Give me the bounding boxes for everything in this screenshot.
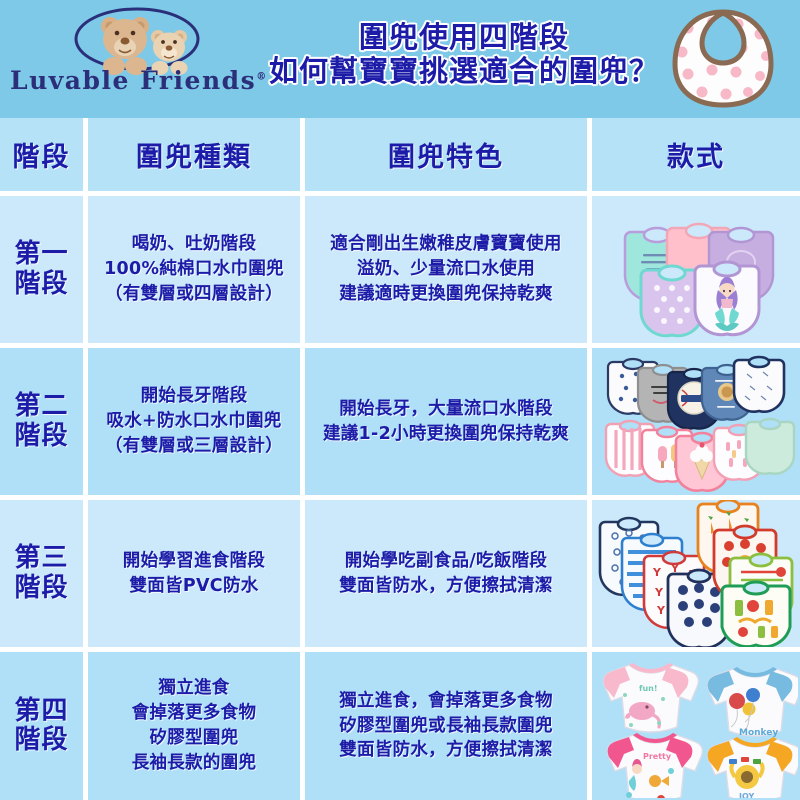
bib-type-cell: 開始長牙階段吸水+防水口水巾圍兜（有雙層或三層設計） xyxy=(88,348,305,495)
title-line-primary: 圍兜使用四階段 xyxy=(258,20,670,54)
bib-type-text: 獨立進食會掉落更多食物矽膠型圍兜長袖長款的圍兜 xyxy=(132,676,257,775)
bib-type-text: 開始學習進食階段雙面皆PVC防水 xyxy=(123,549,265,599)
polka-dot-bib-icon xyxy=(668,6,778,110)
column-header-type-label: 圍兜種類 xyxy=(136,135,252,174)
page-title: 圍兜使用四階段 如何幫寶寶挑選適合的圍兜？ xyxy=(258,20,670,88)
brand-wordmark: Luvable Friends® xyxy=(10,66,260,95)
title-line-secondary: 如何幫寶寶挑選適合的圍兜？ xyxy=(258,54,670,88)
bib-feature-cell: 開始學吃副食品/吃飯階段雙面皆防水，方便擦拭清潔 xyxy=(305,500,592,647)
bib-type-cell: 開始學習進食階段雙面皆PVC防水 xyxy=(88,500,305,647)
svg-text:Y: Y xyxy=(654,586,664,599)
bib-type-cell: 喝奶、吐奶階段100%純棉口水巾圍兜（有雙層或四層設計） xyxy=(88,196,305,343)
table-header-row: 階段 圍兜種類 圍兜特色 款式 xyxy=(0,118,800,196)
bib-style-cell: fun! Monkey xyxy=(592,652,800,800)
column-header-style: 款式 xyxy=(592,118,800,191)
brand-logo: Luvable Friends® xyxy=(10,4,260,114)
bib-style-cell xyxy=(592,196,800,343)
brand-name-text: Luvable Friends xyxy=(10,66,256,95)
bib-style-cell: YYY YYY YY xyxy=(592,500,800,647)
table-row: 第二階段 開始長牙階段吸水+防水口水巾圍兜（有雙層或三層設計） 開始長牙，大量流… xyxy=(0,348,800,500)
bib-type-cell: 獨立進食會掉落更多食物矽膠型圍兜長袖長款的圍兜 xyxy=(88,652,305,800)
bib-type-text: 喝奶、吐奶階段100%純棉口水巾圍兜（有雙層或四層設計） xyxy=(104,232,284,307)
bib-feature-cell: 獨立進食，會掉落更多食物矽膠型圍兜或長袖長款圍兜雙面皆防水，方便擦拭清潔 xyxy=(305,652,592,800)
stages-table: 階段 圍兜種類 圍兜特色 款式 第一階段 喝奶、吐奶階段100%純棉口水巾圍兜（… xyxy=(0,118,800,800)
bib-feature-text: 開始長牙，大量流口水階段建議1-2小時更換圍兜保持乾爽 xyxy=(323,397,569,447)
svg-text:Pretty: Pretty xyxy=(643,752,672,761)
table-row: 第一階段 喝奶、吐奶階段100%純棉口水巾圍兜（有雙層或四層設計） 適合剛出生嫩… xyxy=(0,196,800,348)
svg-text:Y: Y xyxy=(656,604,666,617)
svg-text:Monkey: Monkey xyxy=(739,728,778,738)
stage-cell: 第二階段 xyxy=(0,348,88,495)
column-header-style-label: 款式 xyxy=(667,135,725,174)
column-header-stage: 階段 xyxy=(0,118,88,191)
column-header-stage-label: 階段 xyxy=(13,135,71,174)
table-row: 第四階段 獨立進食會掉落更多食物矽膠型圍兜長袖長款的圍兜 獨立進食，會掉落更多食… xyxy=(0,652,800,800)
pastel-cotton-bibs-photo xyxy=(595,196,798,343)
page-header: Luvable Friends® 圍兜使用四階段 如何幫寶寶挑選適合的圍兜？ xyxy=(0,0,800,118)
stage-cell: 第三階段 xyxy=(0,500,88,647)
bib-style-cell xyxy=(592,348,800,495)
svg-text:fun!: fun! xyxy=(639,684,658,693)
infographic-page: Luvable Friends® 圍兜使用四階段 如何幫寶寶挑選適合的圍兜？ xyxy=(0,0,800,800)
bib-feature-cell: 適合剛出生嫩稚皮膚寶寶使用溢奶、少量流口水使用建議適時更換圍兜保持乾爽 xyxy=(305,196,592,343)
bib-feature-text: 獨立進食，會掉落更多食物矽膠型圍兜或長袖長款圍兜雙面皆防水，方便擦拭清潔 xyxy=(339,689,553,764)
bib-feature-text: 適合剛出生嫩稚皮膚寶寶使用溢奶、少量流口水使用建議適時更換圍兜保持乾爽 xyxy=(330,232,561,307)
bib-feature-text: 開始學吃副食品/吃飯階段雙面皆防水，方便擦拭清潔 xyxy=(339,549,553,599)
stage-label: 第二階段 xyxy=(14,392,68,450)
bib-type-text: 開始長牙階段吸水+防水口水巾圍兜（有雙層或三層設計） xyxy=(105,384,283,459)
bib-feature-cell: 開始長牙，大量流口水階段建議1-2小時更換圍兜保持乾爽 xyxy=(305,348,592,495)
svg-text:Y: Y xyxy=(652,566,662,579)
pvc-waterproof-bibs-photo: YYY YYY YY xyxy=(595,500,798,647)
svg-text:JOY: JOY xyxy=(738,792,754,798)
absorbent-waterproof-bibs-photo xyxy=(595,348,798,495)
stage-label: 第三階段 xyxy=(14,544,68,602)
stage-label: 第一階段 xyxy=(14,240,68,298)
stage-label: 第四階段 xyxy=(14,697,68,755)
long-sleeve-smock-bibs-photo: fun! Monkey xyxy=(595,655,798,798)
stage-cell: 第四階段 xyxy=(0,652,88,800)
table-row: 第三階段 開始學習進食階段雙面皆PVC防水 開始學吃副食品/吃飯階段雙面皆防水，… xyxy=(0,500,800,652)
column-header-type: 圍兜種類 xyxy=(88,118,305,191)
column-header-feature: 圍兜特色 xyxy=(305,118,592,191)
column-header-feature-label: 圍兜特色 xyxy=(388,135,504,174)
stage-cell: 第一階段 xyxy=(0,196,88,343)
